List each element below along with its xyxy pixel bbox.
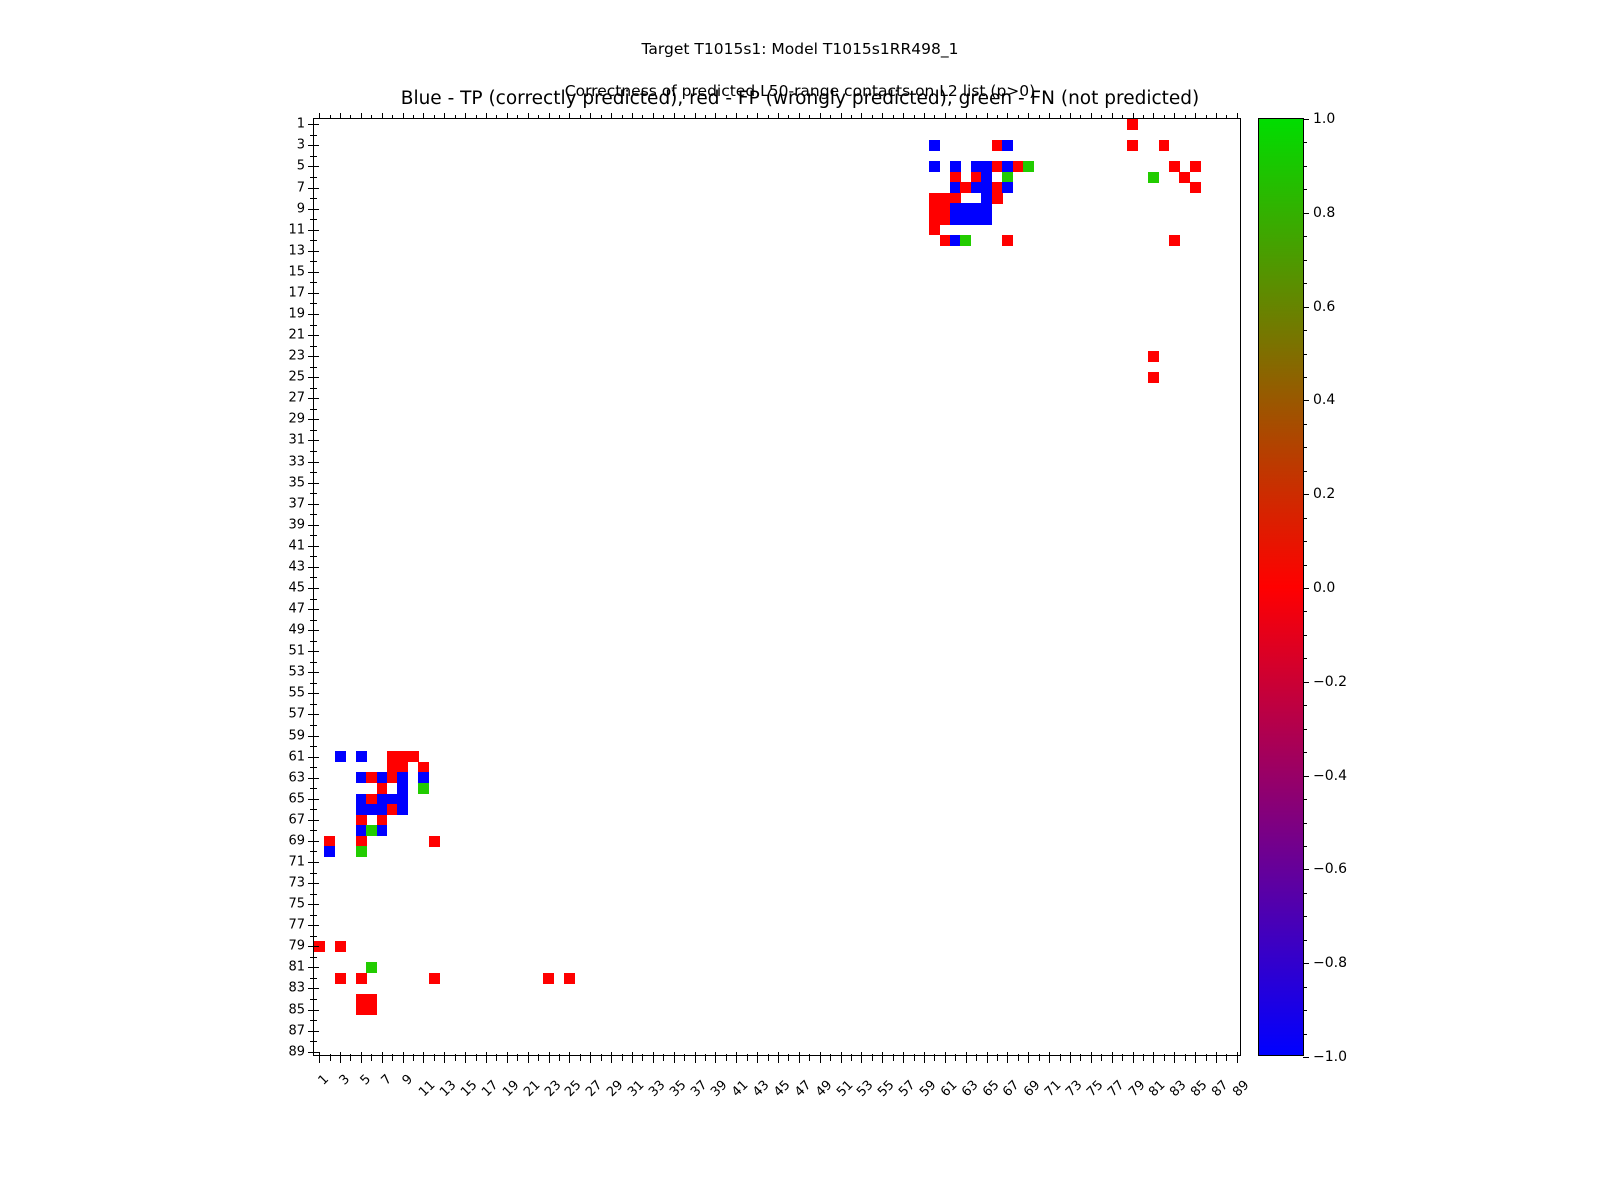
y-tick-inner [314,535,317,536]
x-tick-top [1226,115,1227,119]
x-tick-top [476,115,477,119]
x-tick-label: 7 [384,1066,400,1082]
x-tick [736,1057,737,1063]
y-tick-inner [314,440,319,441]
colorbar-minor-tick [1303,611,1307,612]
colorbar-tick-label: 0.4 [1313,392,1335,408]
x-tick-top [371,115,372,119]
x-tick-top [799,113,800,119]
x-tick [392,1057,393,1061]
contact-cell [564,973,575,984]
contact-cell [1169,235,1180,246]
x-tick-top [601,115,602,119]
contact-cell [397,762,408,773]
x-tick-top [580,115,581,119]
y-tick-inner [314,788,317,789]
colorbar-tick [1303,588,1309,589]
y-tick-inner [314,293,319,294]
contact-cell [366,804,377,815]
x-tick [705,1057,706,1061]
x-tick [695,1057,696,1063]
x-tick-inner [705,1054,706,1057]
y-tick-inner [314,430,317,431]
x-tick-inner [924,1052,925,1057]
y-tick-inner [314,240,317,241]
x-tick-inner [747,1054,748,1057]
x-tick-top [1122,115,1123,119]
contact-cell [950,235,961,246]
x-tick [1133,1057,1134,1063]
contact-cell [981,161,992,172]
y-tick-inner [314,904,319,905]
contact-cell [356,846,367,857]
colorbar-minor-tick [1303,447,1307,448]
y-tick-inner [314,209,319,210]
x-tick-top [1143,115,1144,119]
contact-cell [366,962,377,973]
x-tick-top [768,115,769,119]
x-tick [924,1057,925,1063]
contact-cell [366,1004,377,1015]
x-tick-inner [945,1052,946,1057]
contact-cell [366,794,377,805]
x-tick-inner [695,1052,696,1057]
contact-cell [971,203,982,214]
y-tick-inner [314,525,319,526]
x-tick-inner [893,1054,894,1057]
x-tick-top [1101,115,1102,119]
y-tick-inner [314,177,317,178]
x-tick-top [674,113,675,119]
contact-cell [971,214,982,225]
contact-cell [418,772,429,783]
y-tick-label: 59 [288,728,305,743]
y-tick-inner [314,620,317,621]
y-tick-label: 17 [288,285,305,300]
y-tick-inner [314,830,317,831]
contact-cell [940,203,951,214]
contact-cell [418,762,429,773]
contact-cell [992,161,1003,172]
y-tick-label: 11 [288,222,305,237]
y-tick-label: 65 [288,791,305,806]
contact-cell [981,193,992,204]
x-tick-inner [371,1054,372,1057]
x-tick-top [872,115,873,119]
contact-cell [397,804,408,815]
x-tick-top [757,113,758,119]
x-tick-top [319,113,320,119]
x-tick-inner [778,1052,779,1057]
contact-cell [356,794,367,805]
contact-cell [335,751,346,762]
x-tick-inner [684,1054,685,1057]
y-tick-inner [314,746,317,747]
colorbar-minor-tick [1303,893,1307,894]
x-tick [1112,1057,1113,1063]
contact-cell [929,203,940,214]
y-tick-label: 55 [288,686,305,701]
y-tick-label: 67 [288,812,305,827]
y-tick-label: 51 [288,644,305,659]
colorbar-minor-tick [1303,1034,1307,1035]
y-tick-label: 15 [288,264,305,279]
x-tick-label: 1 [322,1066,338,1082]
x-tick [517,1057,518,1061]
colorbar-minor-tick [1303,916,1307,917]
y-tick-inner [314,577,317,578]
x-tick-top [861,113,862,119]
y-tick-label: 69 [288,833,305,848]
contact-cell [971,182,982,193]
colorbar-minor-tick [1303,518,1307,519]
x-tick-inner [1039,1054,1040,1057]
y-tick-inner [314,957,317,958]
x-tick [768,1057,769,1061]
x-tick [1206,1057,1207,1061]
x-tick-top [549,113,550,119]
x-tick-top [1206,115,1207,119]
contact-cell [940,214,951,225]
y-tick-label: 7 [297,180,305,195]
x-tick-inner [528,1052,529,1057]
y-tick-inner [314,915,317,916]
x-tick-inner [569,1052,570,1057]
x-tick [861,1057,862,1063]
y-tick-label: 45 [288,581,305,596]
x-tick-top [340,113,341,119]
y-tick-inner [314,999,317,1000]
x-tick-top [1091,113,1092,119]
contact-cell [377,794,388,805]
contact-cell [992,140,1003,151]
x-tick-inner [330,1054,331,1057]
y-tick-label: 87 [288,1023,305,1038]
colorbar-minor-tick [1303,729,1307,730]
colorbar-minor-tick [1303,799,1307,800]
contact-cell [950,214,961,225]
contact-cell [366,994,377,1005]
y-tick-label: 35 [288,475,305,490]
x-tick [1070,1057,1071,1063]
x-tick [663,1057,664,1061]
contact-cell [429,836,440,847]
contact-cell [950,193,961,204]
y-tick-inner [314,925,319,926]
x-tick-inner [757,1052,758,1057]
x-tick-top [924,113,925,119]
x-tick-top [403,113,404,119]
y-tick-inner [314,145,319,146]
x-tick-top [1028,113,1029,119]
y-tick-label: 33 [288,454,305,469]
contact-cell [397,751,408,762]
contact-map-cells [314,119,1240,1055]
x-tick [642,1057,643,1061]
colorbar-tick-label: −1.0 [1313,1049,1347,1065]
x-tick-label: 5 [363,1066,379,1082]
x-tick [1018,1057,1019,1061]
contact-cell [1148,351,1159,362]
contact-cell [981,203,992,214]
x-tick-top [465,113,466,119]
x-tick-top [350,115,351,119]
contact-cell [377,804,388,815]
y-tick-inner [314,757,319,758]
colorbar-tick [1303,963,1309,964]
colorbar-tick [1303,776,1309,777]
y-tick-inner [314,514,317,515]
y-tick-inner [314,988,319,989]
y-tick-inner [314,135,317,136]
x-tick-inner [663,1054,664,1057]
y-tick-inner [314,725,317,726]
colorbar-minor-tick [1303,1010,1307,1011]
x-tick-inner [1133,1052,1134,1057]
contact-cell [1148,372,1159,383]
contact-cell [929,193,940,204]
x-tick [1091,1057,1092,1063]
colorbar-minor-tick [1303,846,1307,847]
contact-cell [981,214,992,225]
colorbar-tick-label: 0.2 [1313,486,1335,502]
contact-cell [335,941,346,952]
x-tick-top [1060,115,1061,119]
y-tick-label: 47 [288,602,305,617]
y-tick-inner [314,1020,317,1021]
y-tick-label: 89 [288,1044,305,1059]
x-tick-inner [1122,1054,1123,1057]
x-tick [987,1057,988,1063]
x-tick [496,1057,497,1061]
x-tick [820,1057,821,1063]
y-tick-inner [314,409,317,410]
colorbar-minor-tick [1303,236,1307,237]
x-tick-inner [820,1052,821,1057]
x-tick [674,1057,675,1063]
x-tick-inner [788,1054,789,1057]
y-tick-label: 3 [297,138,305,153]
x-tick [403,1057,404,1063]
colorbar-minor-tick [1303,565,1307,566]
x-tick-top [945,113,946,119]
x-tick-inner [768,1054,769,1057]
y-tick-inner [314,862,319,863]
x-tick-inner [622,1054,623,1057]
x-tick-top [590,113,591,119]
x-tick [1049,1057,1050,1063]
y-tick-label: 5 [297,159,305,174]
x-tick-inner [590,1052,591,1057]
x-tick-top [622,115,623,119]
x-tick-inner [934,1054,935,1057]
x-tick [882,1057,883,1063]
colorbar-tick [1303,307,1309,308]
y-tick-label: 19 [288,306,305,321]
x-tick-top [976,115,977,119]
contact-cell [1127,140,1138,151]
x-tick-inner [1091,1052,1092,1057]
y-tick-inner [314,472,317,473]
x-tick-inner [1164,1054,1165,1057]
x-tick-inner [486,1052,487,1057]
contact-cell [929,224,940,235]
x-tick-inner [642,1054,643,1057]
x-tick-inner [1060,1054,1061,1057]
colorbar-minor-tick [1303,166,1307,167]
x-tick-top [841,113,842,119]
contact-cell [960,214,971,225]
x-tick-inner [423,1052,424,1057]
x-tick-top [1039,115,1040,119]
colorbar-minor-tick [1303,424,1307,425]
contact-cell [971,172,982,183]
x-tick [465,1057,466,1063]
x-tick-top [642,115,643,119]
contact-cell [387,751,398,762]
y-tick-inner [314,451,317,452]
x-tick [330,1057,331,1061]
x-tick-inner [1226,1054,1227,1057]
x-tick [903,1057,904,1063]
colorbar-minor-tick [1303,987,1307,988]
y-tick-label: 37 [288,496,305,511]
x-tick-top [997,115,998,119]
y-tick-inner [314,156,317,157]
x-tick-inner [444,1052,445,1057]
colorbar-tick-label: −0.4 [1313,768,1347,784]
contact-cell [408,751,419,762]
x-tick [611,1057,612,1063]
y-tick-inner [314,820,319,821]
x-tick [1185,1057,1186,1061]
x-tick-top [507,113,508,119]
x-tick [319,1057,320,1063]
contact-map-axes[interactable]: 1357911131517192123252729313335373941434… [313,118,1241,1056]
x-tick-top [538,115,539,119]
x-tick-top [1080,115,1081,119]
y-tick-label: 53 [288,665,305,680]
x-tick-inner [1216,1052,1217,1057]
contact-cell [992,193,1003,204]
x-tick-top [611,113,612,119]
x-tick-inner [549,1052,550,1057]
y-tick-inner [314,272,319,273]
y-tick-label: 21 [288,328,305,343]
x-tick-inner [997,1054,998,1057]
contact-cell [356,1004,367,1015]
x-tick [1101,1057,1102,1061]
contact-cell [356,751,367,762]
colorbar[interactable]: −1.0−0.8−0.6−0.4−0.20.00.20.40.60.81.0 [1258,118,1304,1056]
contact-cell [950,203,961,214]
contact-cell [377,815,388,826]
x-tick [1226,1057,1227,1061]
contact-cell [387,804,398,815]
x-tick [632,1057,633,1063]
figure-root: Target T1015s1: Model T1015s1RR498_1 Cor… [0,0,1600,1200]
x-tick [684,1057,685,1061]
x-tick [809,1057,810,1061]
contact-cell [1002,140,1013,151]
x-tick-top [1164,115,1165,119]
x-tick-inner [1206,1054,1207,1057]
x-tick-top [496,115,497,119]
x-tick-top [1174,113,1175,119]
x-tick-top [726,115,727,119]
y-tick-label: 41 [288,538,305,553]
y-tick-inner [314,303,317,304]
contact-cell [377,825,388,836]
x-tick-inner [601,1054,602,1057]
x-tick-top [987,113,988,119]
x-tick-inner [382,1052,383,1057]
contact-cell [356,836,367,847]
contact-cell [387,762,398,773]
x-tick [726,1057,727,1061]
x-tick-inner [653,1052,654,1057]
contact-cell [356,804,367,815]
y-tick-inner [314,230,319,231]
x-tick [559,1057,560,1061]
x-tick [622,1057,623,1061]
x-tick-top [413,115,414,119]
x-tick [893,1057,894,1061]
x-tick-top [330,115,331,119]
x-tick [413,1057,414,1061]
y-tick-inner [314,367,317,368]
x-tick-top [653,113,654,119]
y-tick-inner [314,609,319,610]
contact-cell [356,994,367,1005]
x-tick [934,1057,935,1061]
x-tick-inner [611,1052,612,1057]
y-tick-inner [314,736,319,737]
x-tick-inner [914,1054,915,1057]
x-tick-inner [736,1052,737,1057]
x-tick-top [1237,113,1238,119]
x-tick [955,1057,956,1061]
y-tick-inner [314,261,317,262]
x-tick-top [1049,113,1050,119]
x-tick-inner [861,1052,862,1057]
x-tick [1039,1057,1040,1061]
x-tick-inner [1049,1052,1050,1057]
contact-cell [429,973,440,984]
x-tick-top [1133,113,1134,119]
y-tick-inner [314,251,319,252]
colorbar-minor-tick [1303,658,1307,659]
x-tick [361,1057,362,1063]
contact-cell [377,772,388,783]
y-tick-label: 29 [288,412,305,427]
y-tick-inner [314,767,317,768]
x-tick-inner [517,1054,518,1057]
y-tick-inner [314,314,319,315]
x-tick-inner [1007,1052,1008,1057]
x-tick [1007,1057,1008,1063]
y-tick-inner [314,978,317,979]
x-tick-inner [1101,1054,1102,1057]
x-tick-top [851,115,852,119]
x-tick [976,1057,977,1061]
contact-cell [366,825,377,836]
y-tick-label: 13 [288,243,305,258]
x-tick-inner [1185,1054,1186,1057]
x-tick [507,1057,508,1063]
x-tick-top [934,115,935,119]
contact-cell [940,235,951,246]
